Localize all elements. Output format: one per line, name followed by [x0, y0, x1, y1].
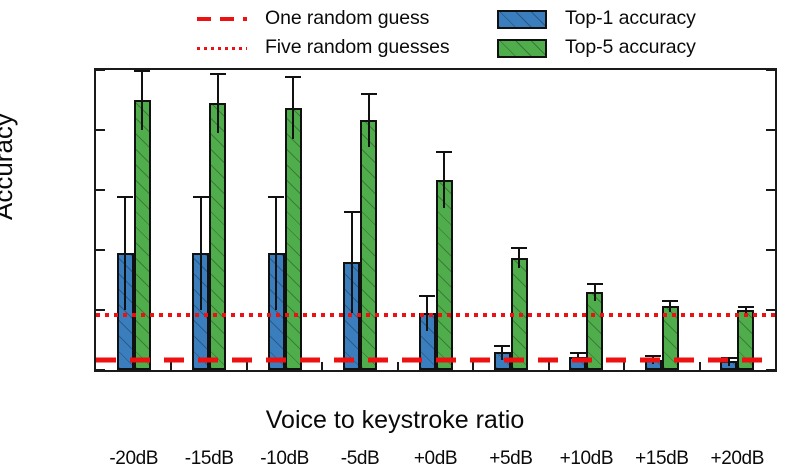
legend-entry-five-random-guesses: Five random guesses: [195, 33, 495, 62]
y-axis-label: Accuracy: [0, 113, 19, 220]
y-axis-tick-mark: [96, 369, 105, 371]
x-axis-tick-mark: [699, 362, 701, 370]
x-axis-tick-label: -10dB: [260, 448, 309, 470]
blue-swatch-key-icon: [495, 9, 549, 29]
y-axis-tick-mark-right: [766, 309, 775, 311]
bar-top5-+0dB: [436, 180, 453, 371]
y-axis-tick-mark: [96, 189, 105, 191]
x-axis-tick-label: -20dB: [109, 448, 158, 470]
error-bar-cap-top: [134, 70, 150, 72]
y-axis-tick-mark-right: [766, 189, 775, 191]
green-swatch-key-icon: [495, 38, 549, 58]
error-bar-cap-top: [361, 93, 377, 95]
error-bar-cap-top: [511, 247, 527, 249]
reference-line-five-random-guesses: [96, 313, 775, 317]
dotted-line-key-icon: [195, 38, 249, 58]
error-bar-cap-top: [587, 283, 603, 285]
x-axis-tick-mark: [397, 362, 399, 370]
x-axis-tick-mark: [548, 362, 550, 370]
y-axis-tick-mark: [96, 309, 105, 311]
x-axis-tick-label: +20dB: [711, 448, 764, 470]
error-bar-cap-top: [344, 211, 360, 213]
y-axis-tick-mark-right: [766, 69, 775, 71]
x-axis-tick-mark: [623, 362, 625, 370]
legend-label-top-5-accuracy: Top-5 accuracy: [565, 36, 696, 59]
legend-entry-one-random-guess: One random guess: [195, 4, 495, 33]
error-bar-stem: [275, 196, 277, 310]
x-axis-label: Voice to keystroke ratio: [0, 406, 790, 435]
error-bar-cap-top: [570, 352, 586, 354]
error-bar-stem: [217, 73, 219, 133]
error-bar-stem: [443, 151, 445, 208]
error-bar-stem: [518, 247, 520, 268]
legend-label-one-random-guess: One random guess: [265, 7, 429, 30]
reference-line-one-random-guess: [96, 358, 775, 363]
error-bar-stem: [200, 196, 202, 310]
bar-top5--15dB: [209, 103, 226, 370]
error-bar-cap-top: [268, 196, 284, 198]
x-axis-tick-label: +5dB: [489, 448, 532, 470]
bar-top5--20dB: [134, 100, 151, 370]
dashed-line-key-icon: [195, 9, 249, 29]
x-axis-tick-mark: [321, 362, 323, 370]
error-bar-cap-top: [193, 196, 209, 198]
error-bar-stem: [594, 283, 596, 301]
legend-entry-top-5-accuracy: Top-5 accuracy: [495, 33, 755, 62]
legend-entry-top-1-accuracy: Top-1 accuracy: [495, 4, 755, 33]
x-axis-tick-mark: [246, 362, 248, 370]
chart-legend: One random guess Top-1 accuracy Five ran…: [195, 4, 755, 62]
error-bar-cap-top: [117, 196, 133, 198]
x-axis-tick-mark: [170, 362, 172, 370]
y-axis-tick-mark: [96, 129, 105, 131]
y-axis-tick-mark: [96, 249, 105, 251]
error-bar-cap-top: [738, 306, 754, 308]
x-axis-tick-label: -15dB: [185, 448, 234, 470]
error-bar-cap-top: [419, 295, 435, 297]
error-bar-cap-top: [662, 300, 678, 302]
error-bar-stem: [141, 70, 143, 130]
legend-label-five-random-guesses: Five random guesses: [265, 36, 450, 59]
error-bar-cap-top: [285, 76, 301, 78]
y-axis-tick-mark-right: [766, 249, 775, 251]
error-bar-stem: [368, 93, 370, 147]
x-axis-tick-label: -5dB: [341, 448, 380, 470]
error-bar-stem: [351, 211, 353, 313]
error-bar-cap-top: [210, 73, 226, 75]
error-bar-cap-top: [436, 151, 452, 153]
x-axis-tick-label: +15dB: [635, 448, 688, 470]
chart-figure: One random guess Top-1 accuracy Five ran…: [0, 0, 790, 445]
legend-label-top-1-accuracy: Top-1 accuracy: [565, 7, 696, 30]
plot-area: 020406080100-20dB-15dB-10dB-5dB+0dB+5dB+…: [94, 68, 777, 372]
bar-top5--10dB: [285, 108, 302, 371]
bar-top5--5dB: [360, 120, 377, 371]
error-bar-cap-top: [494, 345, 510, 347]
x-axis-tick-label: +10dB: [560, 448, 613, 470]
x-axis-tick-mark: [472, 362, 474, 370]
x-axis-tick-label: +0dB: [414, 448, 457, 470]
y-axis-tick-mark-right: [766, 129, 775, 131]
y-axis-tick-mark-right: [766, 369, 775, 371]
plot-inner: 020406080100-20dB-15dB-10dB-5dB+0dB+5dB+…: [96, 70, 775, 370]
y-axis-tick-mark: [96, 69, 105, 71]
error-bar-stem: [124, 196, 126, 310]
error-bar-stem: [292, 76, 294, 139]
